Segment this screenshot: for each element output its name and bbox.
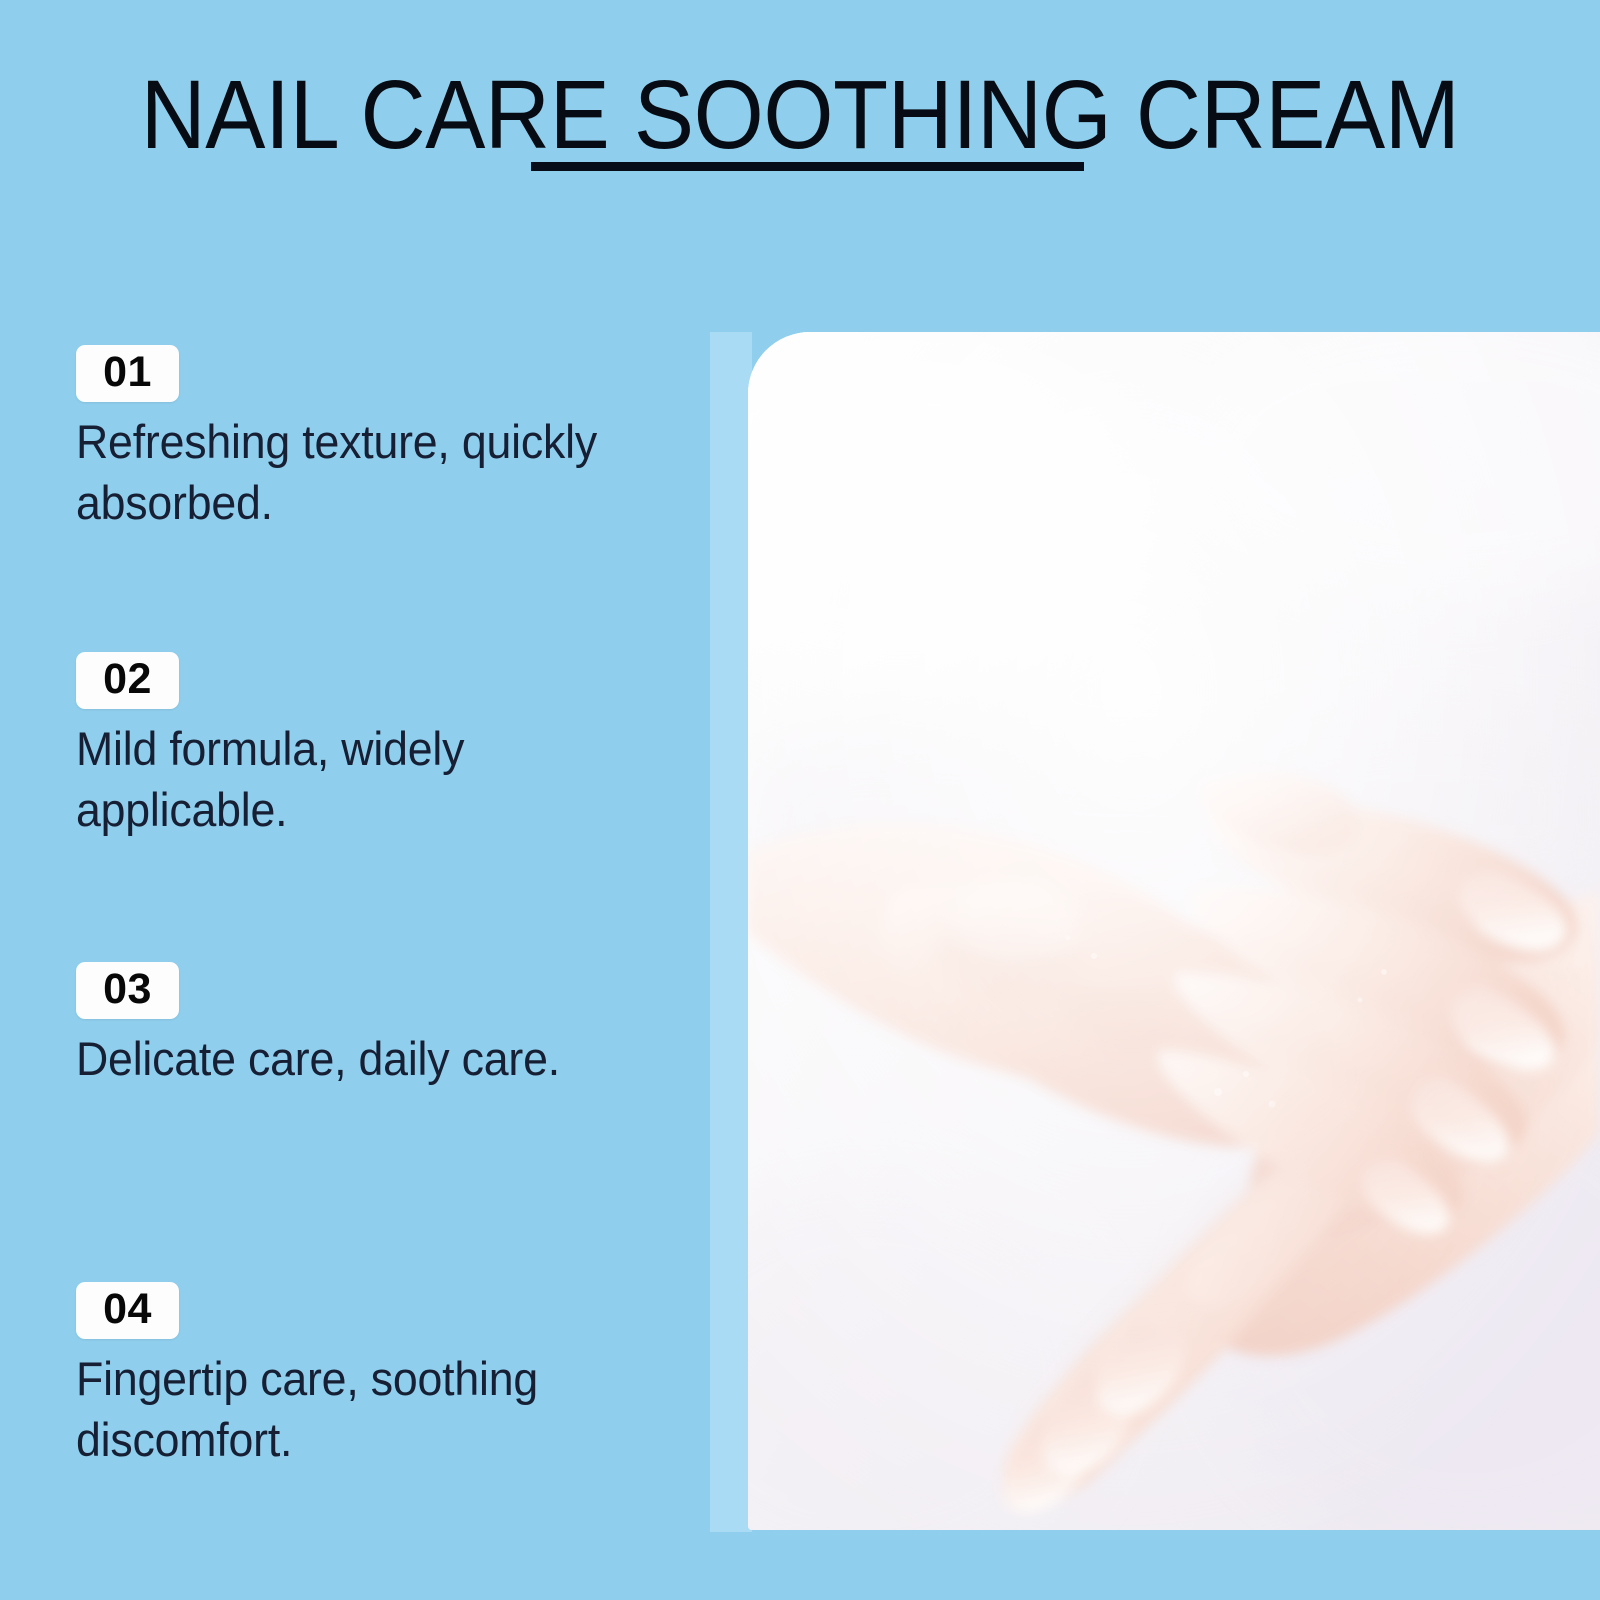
feature-item-02: 02 Mild formula, widely applicable.: [76, 652, 696, 840]
hands-applying-cream-illustration: [748, 332, 1600, 1530]
title-divider: [531, 162, 1084, 171]
photo-accent-strip: [710, 332, 752, 1532]
page-title-block: NAIL CARE SOOTHING CREAM: [0, 66, 1600, 163]
feature-text-02: Mild formula, widely applicable.: [76, 718, 665, 840]
feature-badge-04: 04: [76, 1282, 179, 1339]
feature-number-label: 01: [98, 350, 157, 395]
page-title: NAIL CARE SOOTHING CREAM: [56, 66, 1544, 163]
feature-item-04: 04 Fingertip care, soothing discomfort.: [76, 1282, 696, 1470]
feature-number-label: 04: [98, 1287, 157, 1332]
feature-number-label: 03: [98, 967, 157, 1012]
feature-badge-01: 01: [76, 345, 179, 402]
feature-badge-02: 02: [76, 652, 179, 709]
feature-text-03: Delicate care, daily care.: [76, 1028, 665, 1089]
feature-number-label: 02: [98, 657, 157, 702]
feature-badge-03: 03: [76, 962, 179, 1019]
feature-text-04: Fingertip care, soothing discomfort.: [76, 1348, 665, 1470]
feature-text-01: Refreshing texture, quickly absorbed.: [76, 411, 665, 533]
product-photo: [748, 332, 1600, 1530]
feature-item-03: 03 Delicate care, daily care.: [76, 962, 696, 1089]
feature-item-01: 01 Refreshing texture, quickly absorbed.: [76, 345, 696, 533]
